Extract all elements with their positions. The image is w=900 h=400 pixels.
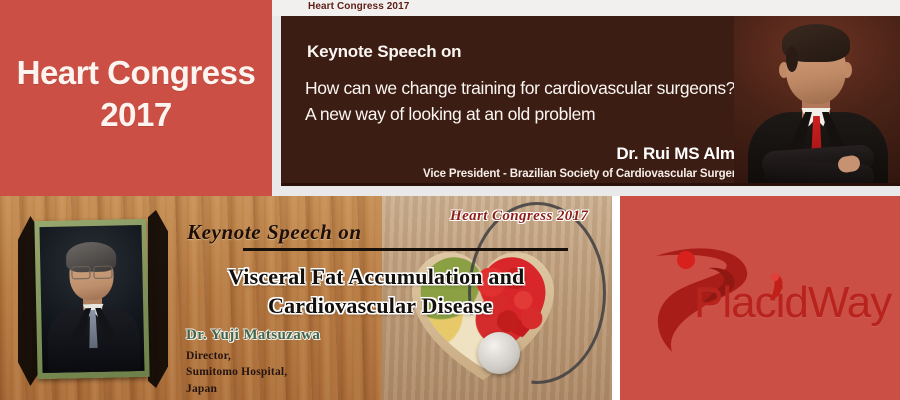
wood-title-line2: Cardiovascular Disease bbox=[268, 293, 493, 319]
banner-title-line2: A new way of looking at an old problem bbox=[305, 104, 595, 125]
speaker-photo-rui-ms-almeida bbox=[734, 16, 900, 186]
event-title-line1: Heart Congress bbox=[17, 56, 256, 91]
brand-panel: PlacidWay bbox=[620, 196, 900, 400]
placidway-logo[interactable]: PlacidWay bbox=[642, 244, 882, 354]
banner-body: Keynote Speech on How can we change trai… bbox=[281, 16, 900, 186]
banner-heading: Keynote Speech on bbox=[307, 42, 461, 62]
wood-divider bbox=[243, 248, 568, 251]
speaker-photo-yuji-matsuzawa bbox=[39, 225, 144, 373]
event-title-panel: Heart Congress 2017 bbox=[0, 0, 272, 196]
wood-title-line1: Visceral Fat Accumulation and bbox=[228, 264, 524, 290]
wood-event-label: Heart Congress 2017 bbox=[450, 208, 588, 225]
banner-speaker-role: Vice President - Brazilian Society of Ca… bbox=[423, 168, 778, 180]
wood-speaker-affiliation: Director, Sumitomo Hospital, Japan bbox=[186, 348, 287, 397]
placidway-dot-accent-icon bbox=[764, 272, 788, 302]
glasses-lens-right-icon bbox=[93, 266, 112, 279]
stethoscope-chestpiece-icon bbox=[478, 332, 520, 374]
wood-speaker-name: Dr. Yuji Matsuzawa bbox=[186, 327, 320, 344]
banner-top-strip: Heart Congress 2017 bbox=[272, 0, 900, 16]
frame-shadow-right bbox=[148, 210, 168, 388]
wood-heading: Keynote Speech on bbox=[187, 220, 362, 245]
event-title-line2: 2017 bbox=[100, 96, 171, 134]
glasses-bridge-icon bbox=[88, 271, 93, 272]
photo-hair bbox=[782, 24, 850, 62]
keynote-banner-almeida: Heart Congress 2017 Keynote Speech on Ho… bbox=[272, 0, 900, 196]
collage-page: Heart Congress 2017 Heart Congress 2017 … bbox=[0, 0, 900, 400]
placidway-wordmark: PlacidWay bbox=[694, 278, 891, 328]
keynote-banner-matsuzawa: Heart Congress 2017 Keynote Speech on Vi… bbox=[0, 196, 612, 400]
banner-strip-label: Heart Congress 2017 bbox=[308, 1, 409, 12]
glasses-lens-left-icon bbox=[71, 266, 90, 279]
framed-portrait bbox=[30, 212, 180, 390]
banner-title-line1: How can we change training for cardiovas… bbox=[305, 78, 735, 99]
